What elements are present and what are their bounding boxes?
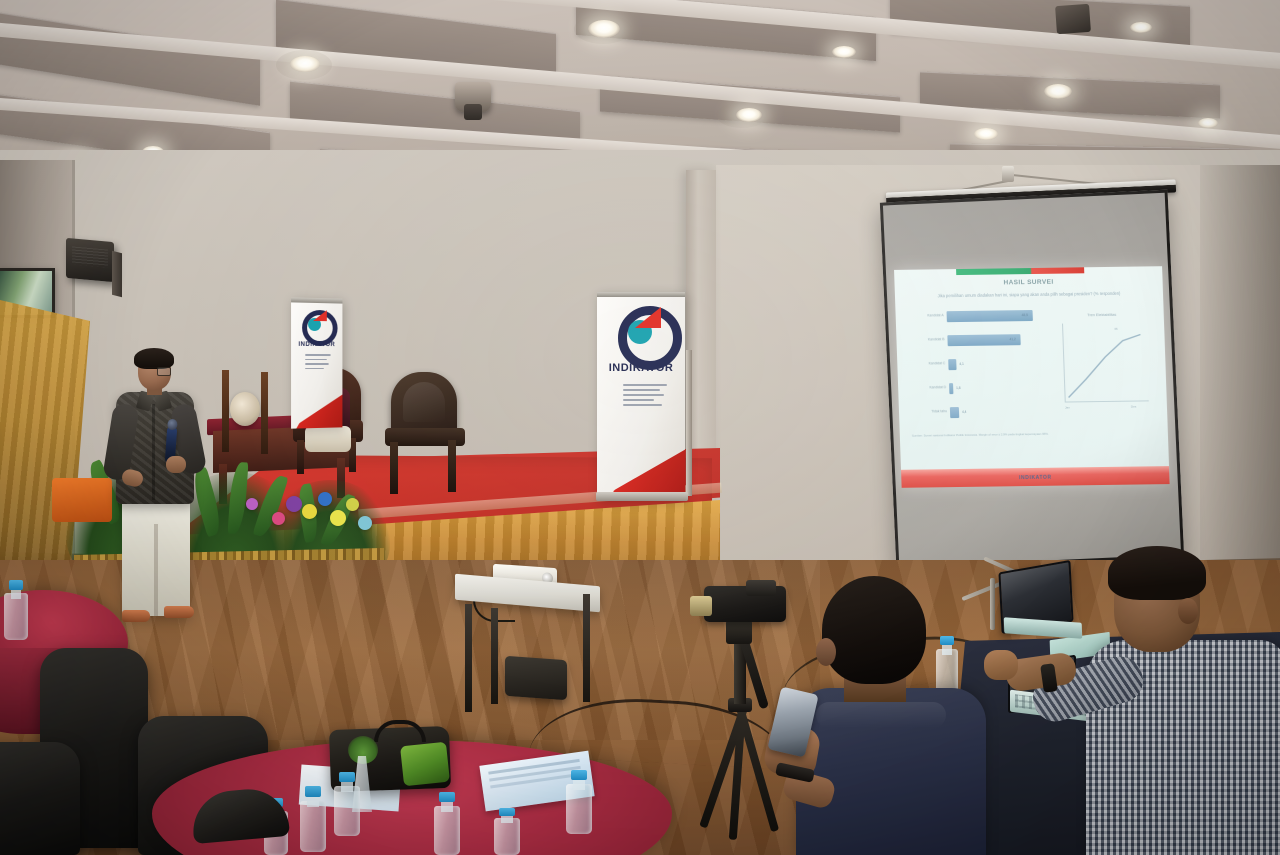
slide-line-chart: Tren Elektabilitas 46 Jan Des xyxy=(1052,312,1156,421)
ceiling-downlight xyxy=(1044,84,1072,99)
ceiling-speaker xyxy=(1055,4,1091,34)
water-bottle xyxy=(4,580,28,640)
water-bottle xyxy=(434,792,460,855)
water-bottle xyxy=(334,772,360,836)
projected-slide: HASIL SURVEI Jika pemilihan umum diadaka… xyxy=(894,266,1170,488)
green-pouch xyxy=(400,742,450,787)
ceiling-downlight xyxy=(832,46,856,58)
banquet-chair xyxy=(0,742,80,855)
wall-speaker xyxy=(66,238,114,282)
ceiling-downlight xyxy=(736,108,762,122)
water-bottle xyxy=(566,770,592,834)
hand-with-phone xyxy=(760,690,836,800)
bar-value: 48,5 xyxy=(1022,313,1028,317)
right-wall-shadow xyxy=(1200,165,1280,595)
sandal xyxy=(122,610,150,622)
conference-hall-photo: INDIKATOR INDIKATOR HASIL SURV xyxy=(0,0,1280,855)
bar-value: 1,8 xyxy=(956,386,961,390)
ceiling-projector-mount xyxy=(455,82,491,112)
eyeglasses xyxy=(144,367,170,374)
bar xyxy=(948,359,956,370)
screen-surface: HASIL SURVEI Jika pemilihan umum diadaka… xyxy=(880,190,1184,571)
banner-brand-left: INDIKATOR xyxy=(291,342,342,348)
banner-brand-right: INDIKATOR xyxy=(597,362,685,374)
presenter xyxy=(104,352,224,632)
roll-up-banner-right: INDIKATOR xyxy=(597,292,685,500)
ceiling-downlight xyxy=(588,20,620,38)
camera-lens xyxy=(690,596,712,616)
banner-base xyxy=(596,492,688,501)
ceiling-downlight xyxy=(290,56,320,72)
orange-planter xyxy=(52,478,112,522)
projection-screen: HASIL SURVEI Jika pemilihan umum diadaka… xyxy=(874,152,1190,572)
ceiling-downlight xyxy=(1130,22,1152,33)
banner-pole xyxy=(686,350,692,496)
speaker-bracket xyxy=(112,251,122,297)
projector-table xyxy=(455,580,600,720)
bar-category-label: Kandidat B xyxy=(910,337,944,341)
screen-hook xyxy=(1002,166,1014,182)
audience-plaid xyxy=(1060,548,1280,855)
slide-title: HASIL SURVEI xyxy=(894,277,1162,288)
bar-category-label: Kandidat D xyxy=(912,385,946,389)
slide-accent-bar xyxy=(956,267,1084,275)
bar xyxy=(947,310,1033,322)
bar-value: 4,4 xyxy=(962,410,967,414)
slide-bar-chart: Kandidat A 48,5 Kandidat B 41,2 Kandidat… xyxy=(910,310,1046,430)
roll-up-banner-left: INDIKATOR xyxy=(291,297,342,428)
bar xyxy=(949,383,953,394)
water-bottle xyxy=(300,786,326,852)
bar-category-label: Kandidat C xyxy=(911,361,945,365)
empty-chair xyxy=(382,372,468,500)
slide-subtitle: Jika pemilihan umum diadakan hari ini, s… xyxy=(909,290,1149,299)
ceiling-downlight xyxy=(974,128,998,140)
equipment-bag xyxy=(505,656,567,700)
sandal xyxy=(164,606,194,618)
bar-value: 4,1 xyxy=(959,362,964,366)
bar-value: 41,2 xyxy=(1009,337,1015,341)
bar-category-label: Kandidat A xyxy=(910,313,944,317)
ceiling-downlight xyxy=(1198,118,1218,128)
slide-source-note: Sumber: Survei nasional Indikator Politi… xyxy=(912,430,1156,437)
ceremonial-gong xyxy=(222,370,268,456)
bar-category-label: Tidak tahu xyxy=(913,409,947,413)
water-bottle xyxy=(494,808,520,855)
bar xyxy=(950,407,959,418)
